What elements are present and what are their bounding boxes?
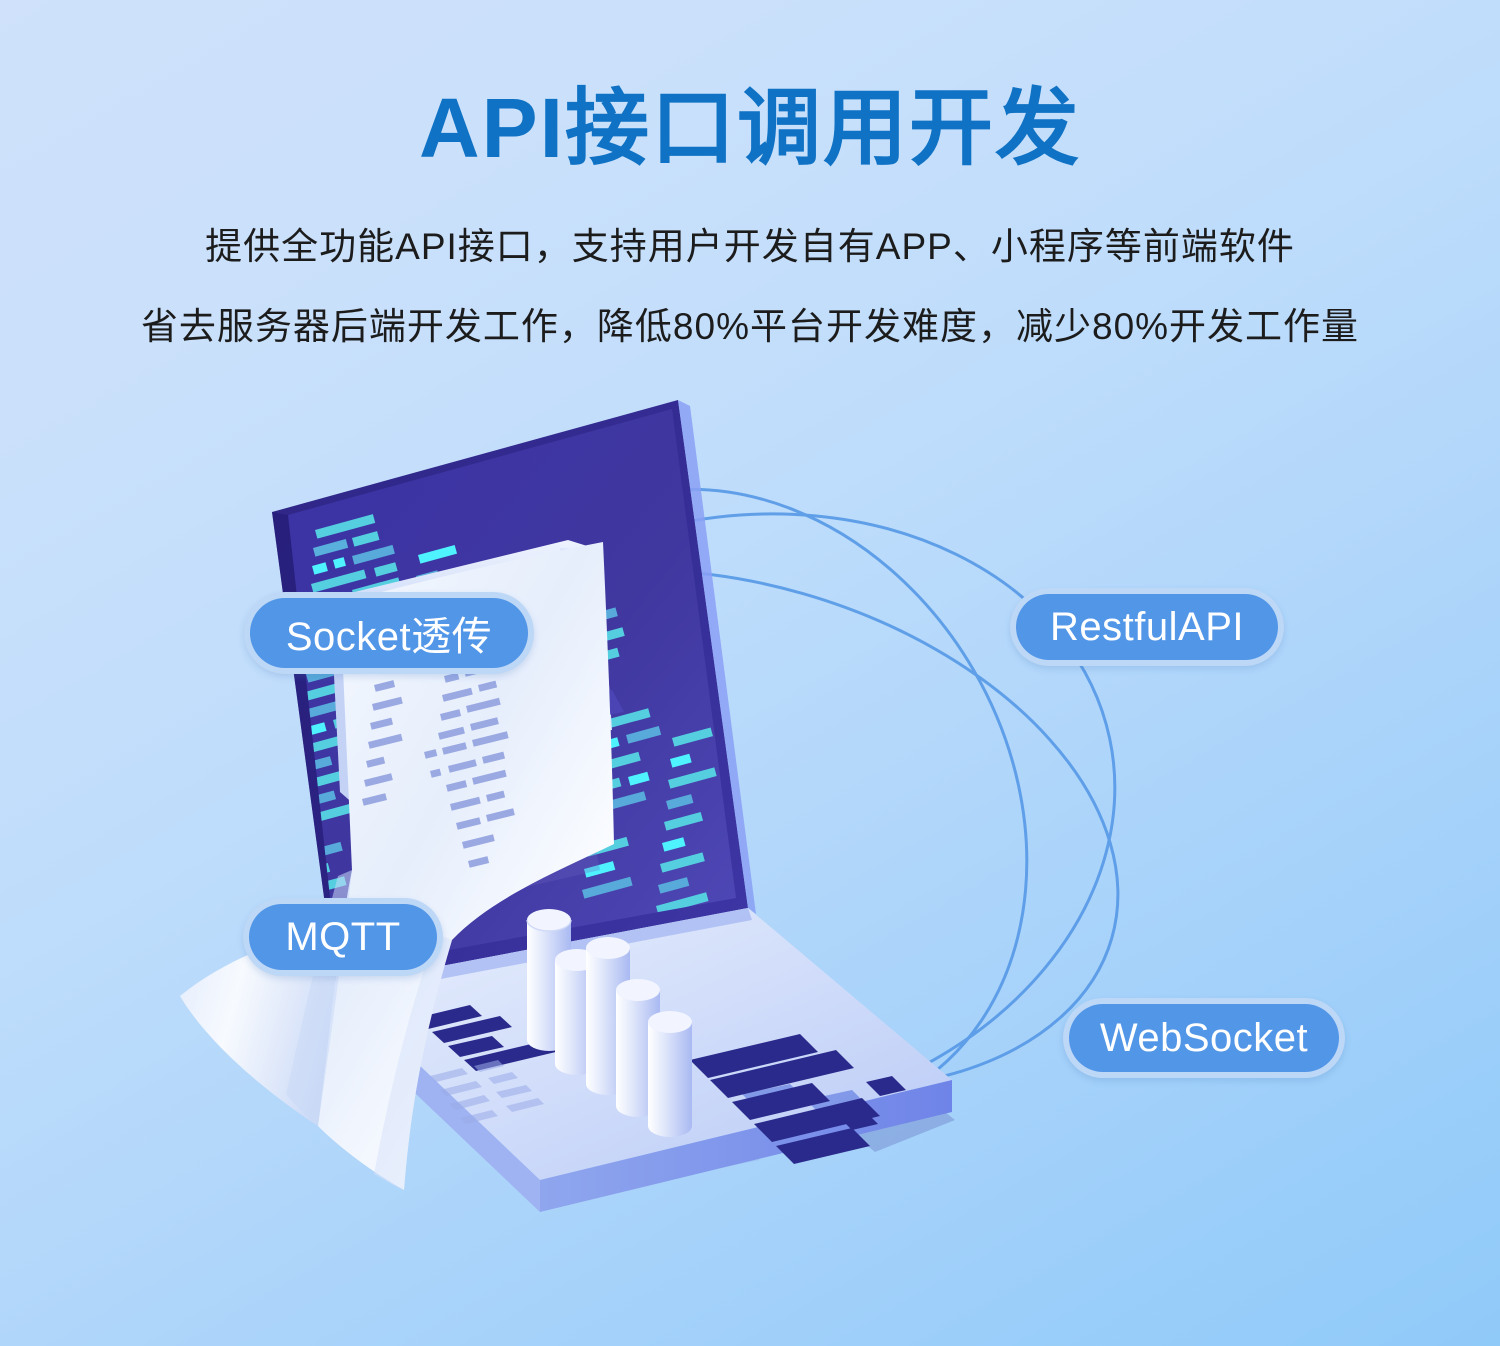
pill-restful-api[interactable]: RestfulAPI <box>1010 588 1284 666</box>
pill-socket-transparent-transmission[interactable]: Socket透传 <box>244 592 534 674</box>
page-subtitle-line-1: 提供全功能API接口，支持用户开发自有APP、小程序等前端软件 <box>0 216 1500 270</box>
hero-illustration <box>0 400 1500 1346</box>
page-title: API接口调用开发 <box>0 0 1500 170</box>
page-subtitle-line-2: 省去服务器后端开发工作，降低80%平台开发难度，减少80%开发工作量 <box>0 296 1500 350</box>
pill-websocket[interactable]: WebSocket <box>1063 998 1345 1078</box>
pill-mqtt[interactable]: MQTT <box>243 898 443 976</box>
page-header: API接口调用开发 提供全功能API接口，支持用户开发自有APP、小程序等前端软… <box>0 0 1500 350</box>
